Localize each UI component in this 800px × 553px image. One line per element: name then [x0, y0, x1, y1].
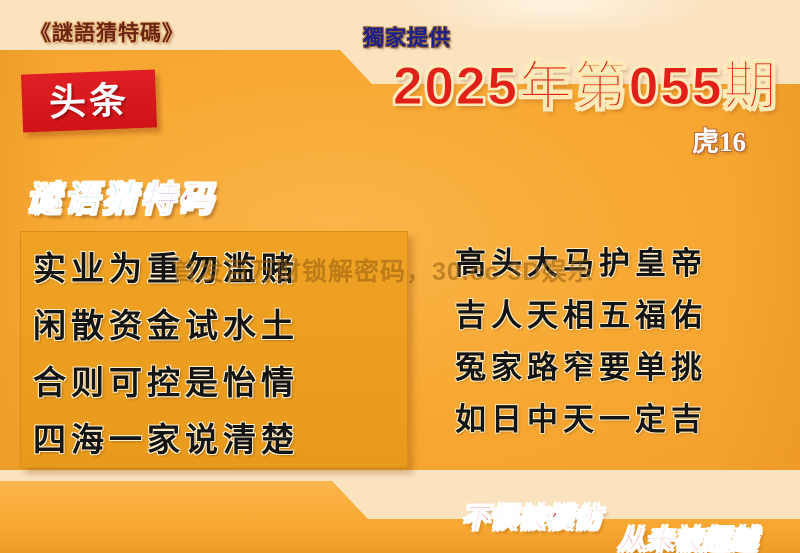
issue-number: 2025年第055期 [393, 44, 778, 120]
rainbow-subtitle-char-0: 谜 [26, 182, 61, 217]
lottery-poster: 《謎語猜特碼》 獨家提供 2025年第055期 虎16 头条 谜语猜特码 实业为… [0, 0, 800, 553]
riddle-line: 合则可控是怡情 [33, 354, 395, 411]
riddle-line: 闲散资金试水土 [33, 297, 395, 354]
rainbow-subtitle-char-2: 猜 [102, 182, 137, 217]
headline-badge-label: 头条 [48, 81, 129, 121]
headline-badge: 头条 [21, 69, 157, 132]
riddle-line: 实业为重勿滥赌 [33, 240, 395, 297]
riddle-line: 四海一家说清楚 [33, 411, 395, 468]
footer-slogan-left: 不惧被模仿 [462, 496, 602, 535]
riddle-box: 实业为重勿滥赌 闲散资金试水土 合则可控是怡情 四海一家说清楚 [20, 231, 408, 468]
verse-line: 如日中天一定吉 [455, 394, 785, 446]
verse-line: 冤家路窄要单挑 [455, 342, 785, 394]
rainbow-subtitle-char-1: 语 [64, 182, 99, 217]
footer-slogan-right: 从未被超越 [618, 518, 758, 553]
rainbow-subtitle-char-4: 码 [178, 182, 213, 217]
verse-line: 吉人天相五福佑 [455, 290, 785, 342]
zodiac-number: 虎16 [692, 120, 746, 159]
verse-column: 高头大马护皇帝 吉人天相五福佑 冤家路窄要单挑 如日中天一定吉 [455, 238, 785, 446]
series-title: 《謎語猜特碼》 [30, 17, 184, 47]
verse-line: 高头大马护皇帝 [455, 238, 785, 290]
rainbow-subtitle: 谜语猜特码 [26, 182, 213, 217]
rainbow-subtitle-char-3: 特 [140, 182, 175, 217]
